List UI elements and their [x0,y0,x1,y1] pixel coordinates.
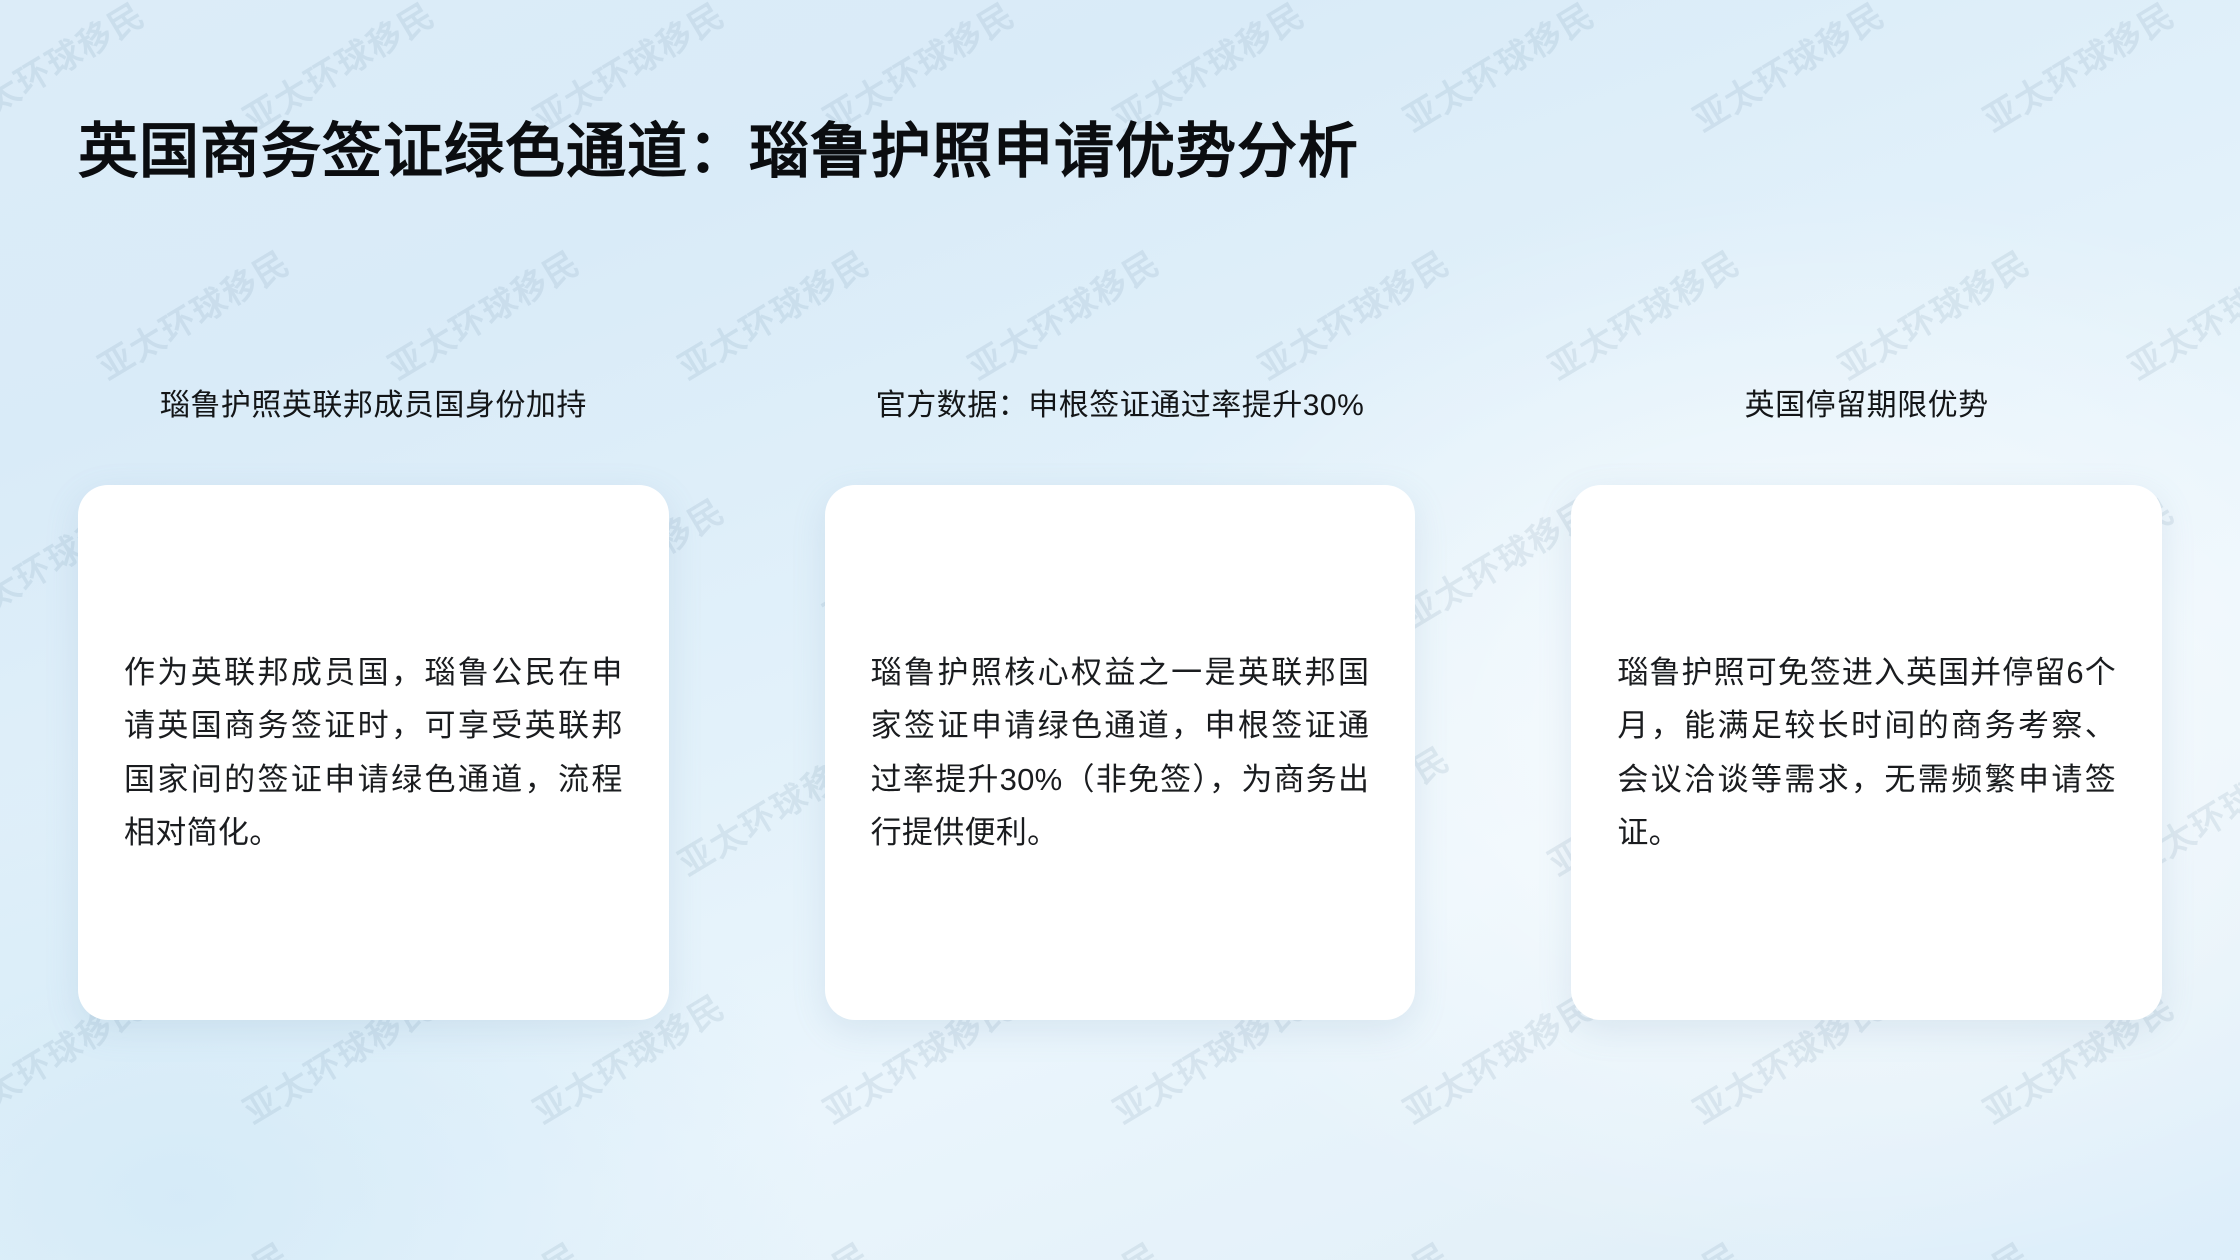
watermark-text: 亚太环球移民 [0,1228,8,1260]
watermark-text: 亚太环球移民 [378,1228,588,1260]
watermark-text: 亚太环球移民 [0,236,8,389]
watermark-text: 亚太环球移民 [1828,236,2038,389]
column-1-body: 作为英联邦成员国，瑙鲁公民在申请英国商务签证时，可享受英联邦国家间的签证申请绿色… [124,646,623,859]
watermark-text: 亚太环球移民 [668,236,878,389]
column-3-body: 瑙鲁护照可免签进入英国并停留6个月，能满足较长时间的商务考察、会议洽谈等需求，无… [1617,646,2116,859]
watermark-text: 亚太环球移民 [1683,0,1893,141]
column-2: 官方数据：申根签证通过率提升30% 瑙鲁护照核心权益之一是英联邦国家签证申请绿色… [747,386,1494,1086]
watermark-text: 亚太环球移民 [1973,0,2183,141]
watermark-text: 亚太环球移民 [668,1228,878,1260]
watermark-text: 亚太环球移民 [378,236,588,389]
watermark-text: 亚太环球移民 [2118,1228,2240,1260]
watermark-text: 亚太环球移民 [1248,236,1458,389]
page-title: 英国商务签证绿色通道：瑙鲁护照申请优势分析 [78,120,1359,185]
watermark-text: 亚太环球移民 [958,236,1168,389]
slide-canvas: 亚太环球移民亚太环球移民亚太环球移民亚太环球移民亚太环球移民亚太环球移民亚太环球… [0,0,2240,1260]
column-3: 英国停留期限优势 瑙鲁护照可免签进入英国并停留6个月，能满足较长时间的商务考察、… [1493,386,2240,1086]
watermark-text: 亚太环球移民 [958,1228,1168,1260]
watermark-text: 亚太环球移民 [1248,1228,1458,1260]
column-2-body: 瑙鲁护照核心权益之一是英联邦国家签证申请绿色通道，申根签证通过率提升30%（非免… [871,646,1370,859]
watermark-text: 亚太环球移民 [1828,1228,2038,1260]
watermark-text: 亚太环球移民 [1538,236,1748,389]
watermark-text: 亚太环球移民 [1538,1228,1748,1260]
column-1: 瑙鲁护照英联邦成员国身份加持 作为英联邦成员国，瑙鲁公民在申请英国商务签证时，可… [0,386,747,1086]
watermark-text: 亚太环球移民 [1393,0,1603,141]
watermark-text: 亚太环球移民 [88,236,298,389]
columns-container: 瑙鲁护照英联邦成员国身份加持 作为英联邦成员国，瑙鲁公民在申请英国商务签证时，可… [0,386,2240,1086]
column-1-card: 作为英联邦成员国，瑙鲁公民在申请英国商务签证时，可享受英联邦国家间的签证申请绿色… [78,485,669,1020]
column-2-card: 瑙鲁护照核心权益之一是英联邦国家签证申请绿色通道，申根签证通过率提升30%（非免… [825,485,1416,1020]
watermark-text: 亚太环球移民 [88,1228,298,1260]
column-2-header: 官方数据：申根签证通过率提升30% [876,386,1365,425]
watermark-text: 亚太环球移民 [2118,236,2240,389]
column-3-card: 瑙鲁护照可免签进入英国并停留6个月，能满足较长时间的商务考察、会议洽谈等需求，无… [1571,485,2162,1020]
column-1-header: 瑙鲁护照英联邦成员国身份加持 [160,386,587,425]
column-3-header: 英国停留期限优势 [1745,386,1989,425]
